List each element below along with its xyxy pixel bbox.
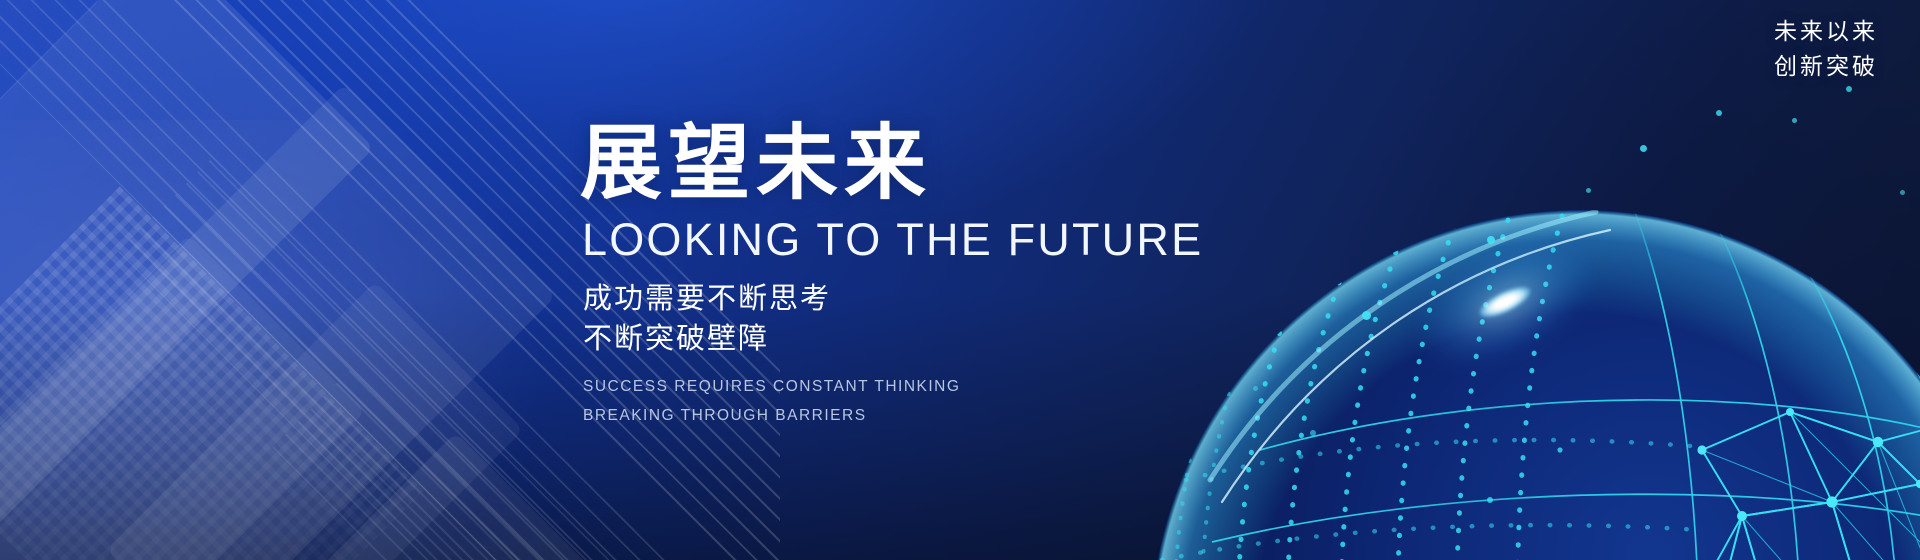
particle-dot: [1792, 118, 1797, 123]
corner-tagline-line-1: 未来以来: [1774, 14, 1878, 49]
corner-tagline: 未来以来 创新突破: [1774, 14, 1878, 84]
hero-copy: 展望未来 LOOKING TO THE FUTURE 成功需要不断思考 不断突破…: [580, 122, 1340, 430]
particle-dot: [1640, 145, 1647, 152]
hero-banner: 展望未来 LOOKING TO THE FUTURE 成功需要不断思考 不断突破…: [0, 0, 1920, 560]
particle-dot: [1586, 188, 1591, 193]
particle-dot: [1487, 236, 1495, 244]
headline-english: LOOKING TO THE FUTURE: [582, 216, 1340, 263]
page-title: 展望未来: [580, 122, 1340, 206]
particle-dot: [1362, 311, 1371, 320]
corner-tagline-line-2: 创新突破: [1774, 49, 1878, 84]
subtitle-chinese: 成功需要不断思考 不断突破壁障: [583, 279, 1340, 359]
particle-dot: [1900, 190, 1905, 195]
subtitle-english-line-1: SUCCESS REQUIRES CONSTANT THINKING: [583, 373, 1340, 402]
particle-dot: [1310, 430, 1316, 436]
subtitle-english-line-2: BREAKING THROUGH BARRIERS: [583, 402, 1340, 431]
particle-dot: [1846, 86, 1852, 92]
subtitle-chinese-line-2: 不断突破壁障: [583, 319, 1340, 359]
subtitle-chinese-line-1: 成功需要不断思考: [583, 279, 1340, 319]
subtitle-english: SUCCESS REQUIRES CONSTANT THINKING BREAK…: [583, 373, 1340, 430]
particle-dot: [1716, 110, 1722, 116]
